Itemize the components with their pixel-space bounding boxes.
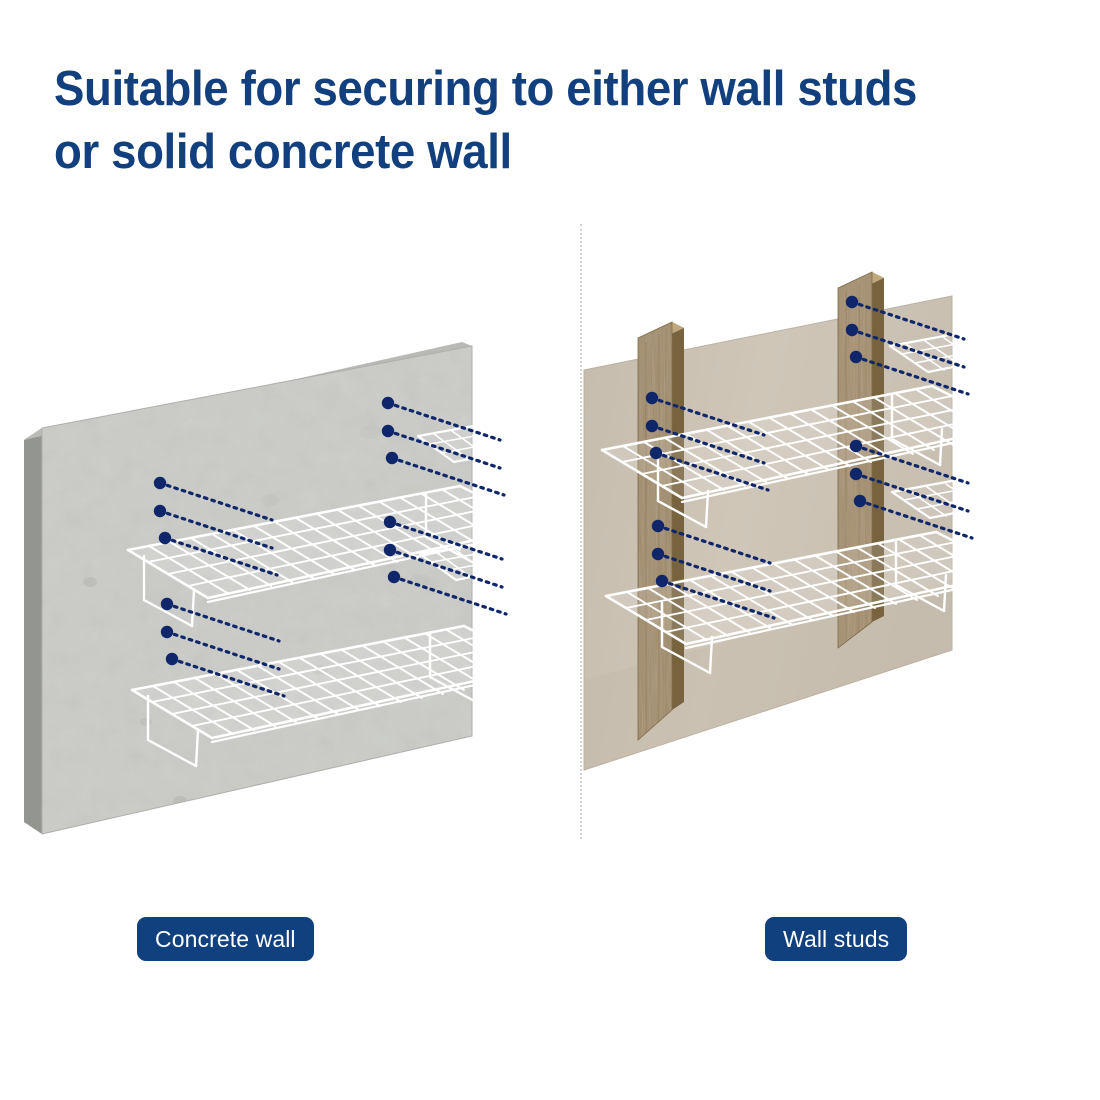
- concrete-slab-edge: [24, 428, 42, 834]
- badge-wall-studs[interactable]: Wall studs: [765, 917, 907, 961]
- wall-studs-illustration: [580, 250, 1080, 850]
- infographic-canvas: Suitable for securing to either wall stu…: [0, 0, 1100, 1100]
- page-title: Suitable for securing to either wall stu…: [54, 58, 993, 183]
- concrete-wall-illustration: [20, 250, 580, 870]
- badge-concrete-wall[interactable]: Concrete wall: [137, 917, 314, 961]
- concrete-slab-front: [20, 330, 490, 850]
